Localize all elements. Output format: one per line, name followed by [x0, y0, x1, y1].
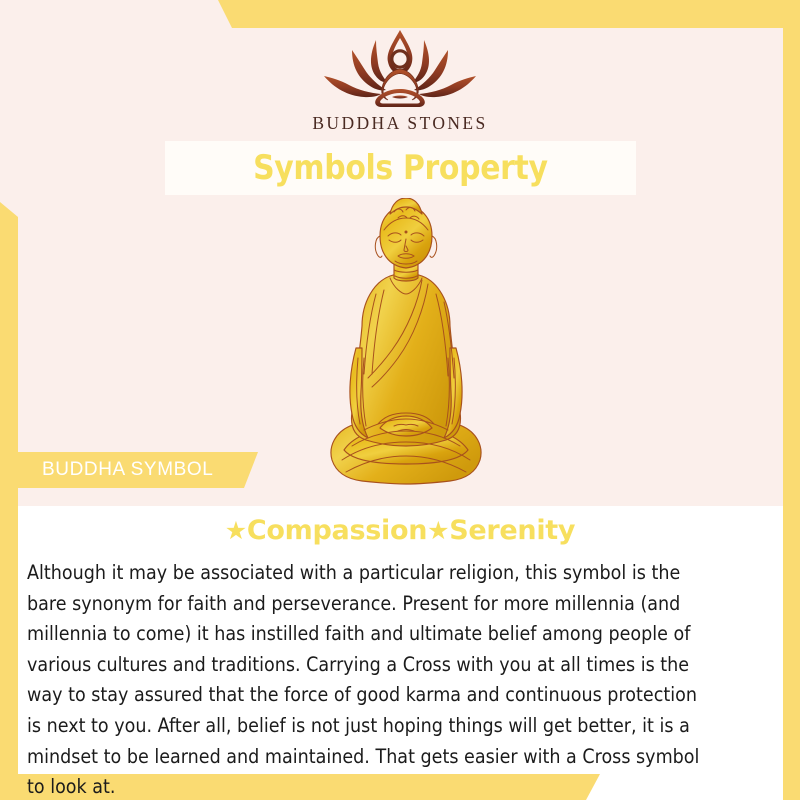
lotus-meditation-figure-icon — [312, 26, 488, 108]
decorative-frame-right — [783, 28, 800, 800]
symbol-category-label: BUDDHA SYMBOL — [42, 459, 213, 481]
page-title: Symbols Property — [253, 148, 548, 188]
golden-seated-buddha-illustration — [318, 198, 494, 494]
title-banner: Symbols Property — [165, 141, 636, 195]
brand-logo: BUDDHA STONES — [0, 26, 800, 134]
attribute-compassion: Compassion — [247, 515, 427, 546]
decorative-frame-left — [0, 198, 18, 800]
promo-banner: BUDDHA STONES Symbols Property — [0, 0, 800, 800]
attributes-headline: ★Compassion★Serenity — [0, 515, 800, 546]
attribute-serenity: Serenity — [449, 515, 575, 546]
star-icon-left: ★ — [225, 516, 247, 545]
brand-name: BUDDHA STONES — [312, 113, 487, 134]
description-paragraph: Although it may be associated with a par… — [27, 558, 704, 800]
star-icon-right: ★ — [427, 516, 449, 545]
symbol-category-tag: BUDDHA SYMBOL — [18, 452, 258, 488]
